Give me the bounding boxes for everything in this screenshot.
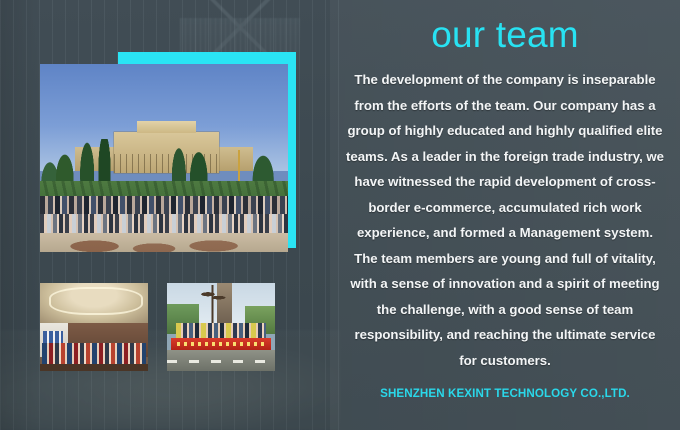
banner-bare-tree — [199, 285, 227, 327]
lobby-team-photo — [40, 283, 148, 371]
lobby-chandelier-ceiling — [40, 283, 148, 323]
about-paragraph: The development of the company is insepa… — [344, 67, 666, 373]
red-banner — [171, 338, 270, 349]
hero-mosaic-pavement — [40, 233, 288, 252]
lobby-floor — [40, 364, 148, 371]
background-left-shadow — [0, 0, 40, 430]
hero-team-photo — [40, 64, 288, 252]
banner-team-photo — [167, 283, 275, 371]
page-title: our team — [344, 0, 666, 53]
poster-canvas: our team The development of the company … — [0, 0, 680, 430]
text-column: our team The development of the company … — [330, 0, 680, 430]
company-name: SHENZHEN KEXINT TECHNOLOGY CO.,LTD. — [344, 387, 666, 400]
banner-road — [167, 350, 275, 371]
